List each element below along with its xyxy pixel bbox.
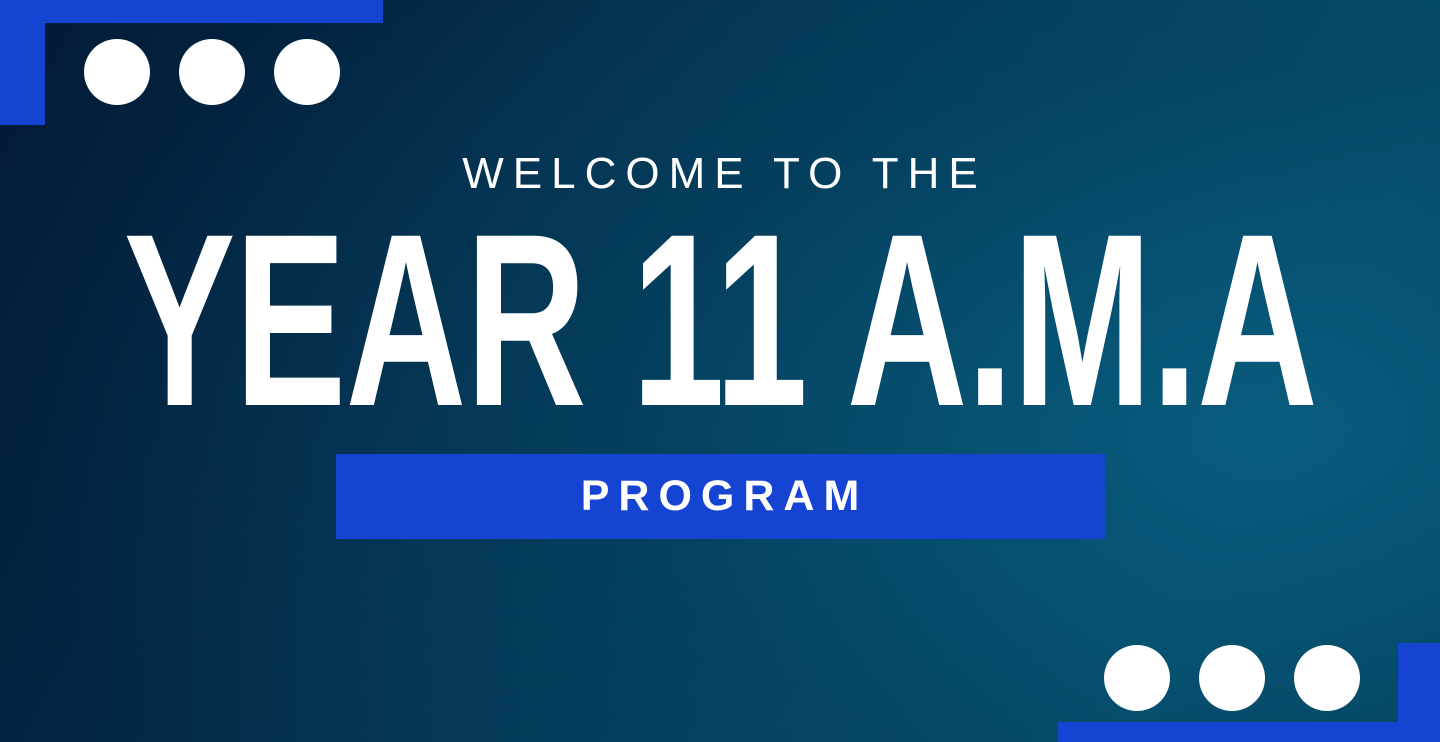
page-title: YEAR 11 A.M.A (123, 232, 1316, 409)
program-banner-label: PROGRAM (572, 475, 869, 518)
welcome-slide: WELCOME TO THE YEAR 11 A.M.A PROGRAM (0, 0, 1440, 742)
program-banner: PROGRAM (336, 454, 1105, 539)
slide-content: WELCOME TO THE YEAR 11 A.M.A PROGRAM (0, 0, 1440, 742)
